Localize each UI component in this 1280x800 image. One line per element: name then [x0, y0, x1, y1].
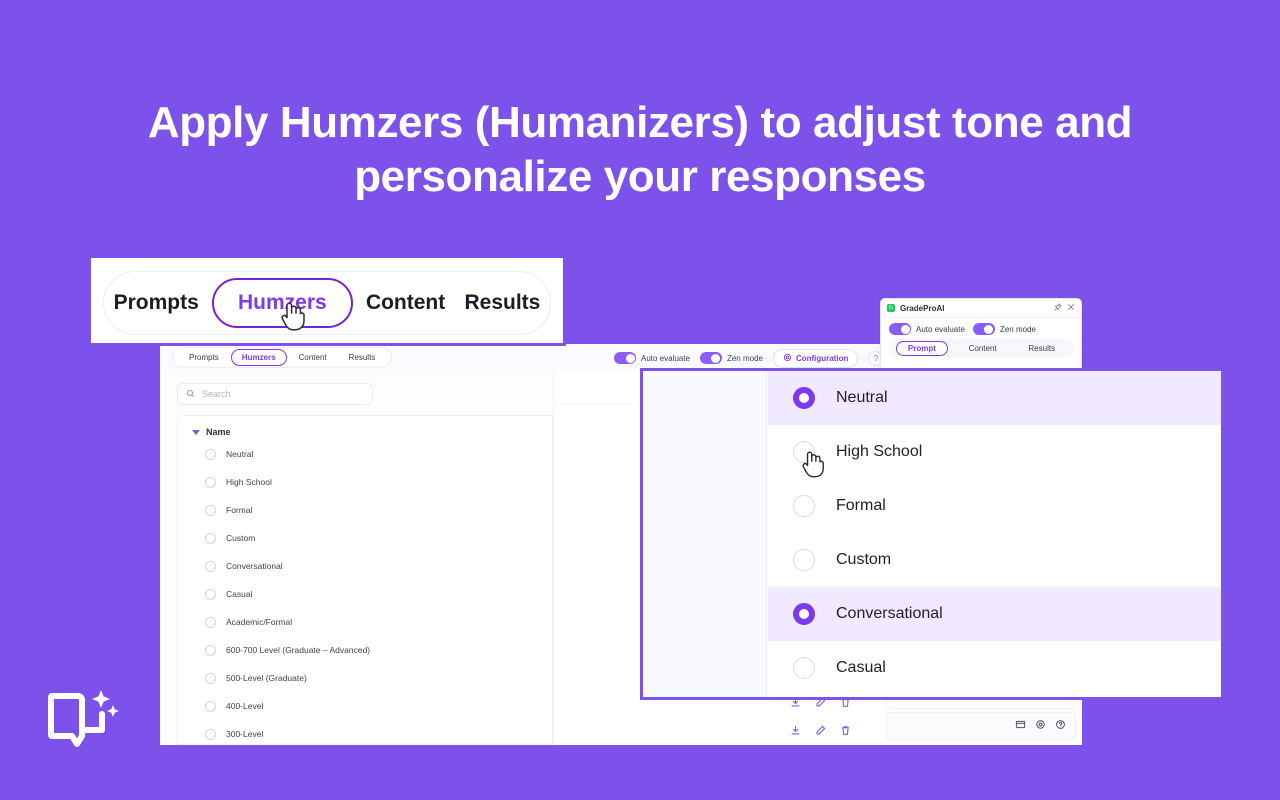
list-item[interactable]: Formal — [178, 496, 552, 524]
radio-icon-selected[interactable] — [793, 387, 815, 409]
list-item[interactable]: 400-Level — [178, 692, 552, 720]
tab-prompt[interactable]: Prompt — [896, 341, 948, 356]
list-item-label: Custom — [226, 533, 255, 543]
panel-layout-icon[interactable] — [1015, 717, 1026, 735]
headline-line-2: personalize your responses — [354, 152, 926, 201]
callout-side-panel — [643, 371, 767, 697]
row-actions-lower — [790, 723, 851, 741]
tab-content[interactable]: Content — [958, 342, 1008, 355]
mini-window-tab-group: Prompt Content Results — [888, 339, 1074, 357]
radio-icon[interactable] — [205, 477, 216, 488]
mouse-cursor-pointer — [281, 300, 307, 337]
tab-humzers[interactable]: Humzers — [231, 349, 287, 366]
list-item-label: Neutral — [226, 449, 253, 459]
headline-line-1: Apply Humzers (Humanizers) to adjust ton… — [148, 98, 1132, 147]
configuration-label: Configuration — [796, 354, 848, 363]
radio-icon[interactable] — [205, 673, 216, 684]
tab-prompts[interactable]: Prompts — [179, 350, 229, 365]
gear-icon[interactable] — [1035, 717, 1046, 735]
caret-down-icon[interactable] — [192, 430, 200, 435]
list-item[interactable]: 600-700 Level (Graduate – Advanced) — [178, 636, 552, 664]
list-item-label: High School — [226, 477, 272, 487]
radio-icon[interactable] — [793, 657, 815, 679]
list-item[interactable]: 500-Level (Graduate) — [178, 664, 552, 692]
gear-icon — [783, 353, 792, 364]
option-row-formal[interactable]: Formal — [768, 479, 1221, 533]
tab-results[interactable]: Results — [458, 291, 546, 315]
list-item[interactable]: Neutral — [178, 440, 552, 468]
option-label: Conversational — [836, 605, 943, 623]
auto-evaluate-label: Auto evaluate — [641, 354, 690, 363]
search-input[interactable]: Search — [177, 383, 373, 405]
humzers-list-card: Name Neutral High School Formal Custom C… — [177, 415, 553, 745]
list-item-label: Casual — [226, 589, 252, 599]
radio-icon[interactable] — [205, 589, 216, 600]
tab-group: Prompts Humzers Content Results — [103, 271, 551, 335]
auto-evaluate-toggle[interactable]: Auto evaluate — [889, 323, 965, 335]
option-row-high-school[interactable]: High School — [768, 425, 1221, 479]
list-item[interactable]: Academic/Formal — [178, 608, 552, 636]
mini-window-toggles: Auto evaluate Zen mode — [881, 318, 1081, 338]
tab-results[interactable]: Results — [1017, 342, 1066, 355]
mouse-cursor-pointer — [802, 449, 826, 484]
tab-prompts[interactable]: Prompts — [108, 291, 205, 315]
window-title-bar: G GradeProAI — [881, 299, 1081, 318]
radio-icon[interactable] — [205, 505, 216, 516]
tab-content[interactable]: Content — [289, 350, 337, 365]
trash-icon[interactable] — [840, 723, 851, 741]
radio-icon[interactable] — [205, 645, 216, 656]
option-row-neutral[interactable]: Neutral — [768, 371, 1221, 425]
list-item-label: 300-Level — [226, 729, 263, 739]
radio-icon[interactable] — [793, 495, 815, 517]
toggle-switch-icon[interactable] — [700, 352, 722, 364]
page-title: Apply Humzers (Humanizers) to adjust ton… — [0, 96, 1280, 204]
zen-mode-label: Zen mode — [1000, 325, 1036, 334]
zen-mode-toggle[interactable]: Zen mode — [973, 323, 1036, 335]
column-header-label: Name — [206, 427, 231, 437]
option-row-custom[interactable]: Custom — [768, 533, 1221, 587]
list-item-label: Formal — [226, 505, 252, 515]
list-item-label: Academic/Formal — [226, 617, 292, 627]
list-item[interactable]: Custom — [178, 524, 552, 552]
list-item[interactable]: Conversational — [178, 552, 552, 580]
edit-pencil-icon[interactable] — [815, 723, 826, 741]
auto-evaluate-toggle[interactable]: Auto evaluate — [614, 352, 690, 364]
list-item-label: 400-Level — [226, 701, 263, 711]
list-item[interactable]: Casual — [178, 580, 552, 608]
radio-icon[interactable] — [205, 729, 216, 740]
option-row-casual[interactable]: Casual — [768, 641, 1221, 695]
humzer-options-list: Neutral High School Formal Custom Conver… — [768, 371, 1221, 697]
option-label: High School — [836, 443, 922, 461]
radio-icon[interactable] — [205, 617, 216, 628]
radio-icon-selected[interactable] — [793, 603, 815, 625]
toggle-switch-icon[interactable] — [889, 323, 911, 335]
auto-evaluate-label: Auto evaluate — [916, 325, 965, 334]
toggle-switch-icon[interactable] — [973, 323, 995, 335]
column-header-name[interactable]: Name — [178, 424, 552, 440]
book-sparkle-icon — [46, 688, 120, 754]
pin-icon[interactable] — [1054, 303, 1062, 313]
humzers-list-panel: Search Name Neutral High School Formal C — [160, 370, 554, 745]
radio-icon[interactable] — [793, 549, 815, 571]
configuration-button[interactable]: Configuration — [773, 349, 858, 368]
callout-options-zoom: Neutral High School Formal Custom Conver… — [640, 368, 1224, 700]
list-item-label: Conversational — [226, 561, 283, 571]
window-title: GradeProAI — [900, 304, 1049, 313]
radio-icon[interactable] — [205, 701, 216, 712]
option-label: Neutral — [836, 389, 888, 407]
radio-icon[interactable] — [205, 449, 216, 460]
radio-icon[interactable] — [205, 561, 216, 572]
radio-icon[interactable] — [205, 533, 216, 544]
toggle-switch-icon[interactable] — [614, 352, 636, 364]
download-icon[interactable] — [790, 723, 801, 741]
search-placeholder: Search — [202, 389, 231, 399]
zen-mode-toggle[interactable]: Zen mode — [700, 352, 763, 364]
close-icon[interactable] — [1067, 303, 1075, 313]
tab-content[interactable]: Content — [360, 291, 451, 315]
gradeproai-floating-window: G GradeProAI Auto evaluate Zen mode Prom… — [880, 298, 1082, 370]
list-item[interactable]: High School — [178, 468, 552, 496]
gradeproai-logo-icon: G — [887, 304, 895, 312]
list-item[interactable]: 300-Level — [178, 720, 552, 745]
list-item-label: 600-700 Level (Graduate – Advanced) — [226, 645, 370, 655]
list-item-label: 500-Level (Graduate) — [226, 673, 307, 683]
callout-tabs-zoom: Prompts Humzers Content Results — [88, 255, 566, 346]
tab-results[interactable]: Results — [339, 350, 386, 365]
zen-mode-label: Zen mode — [727, 354, 763, 363]
app-tab-group: Prompts Humzers Content Results — [172, 347, 392, 368]
option-label: Custom — [836, 551, 891, 569]
option-label: Casual — [836, 659, 886, 677]
composer-footer — [886, 712, 1076, 740]
option-label: Formal — [836, 497, 886, 515]
search-icon — [186, 385, 195, 403]
option-row-conversational[interactable]: Conversational — [768, 587, 1221, 641]
question-circle-icon[interactable] — [1055, 717, 1066, 735]
